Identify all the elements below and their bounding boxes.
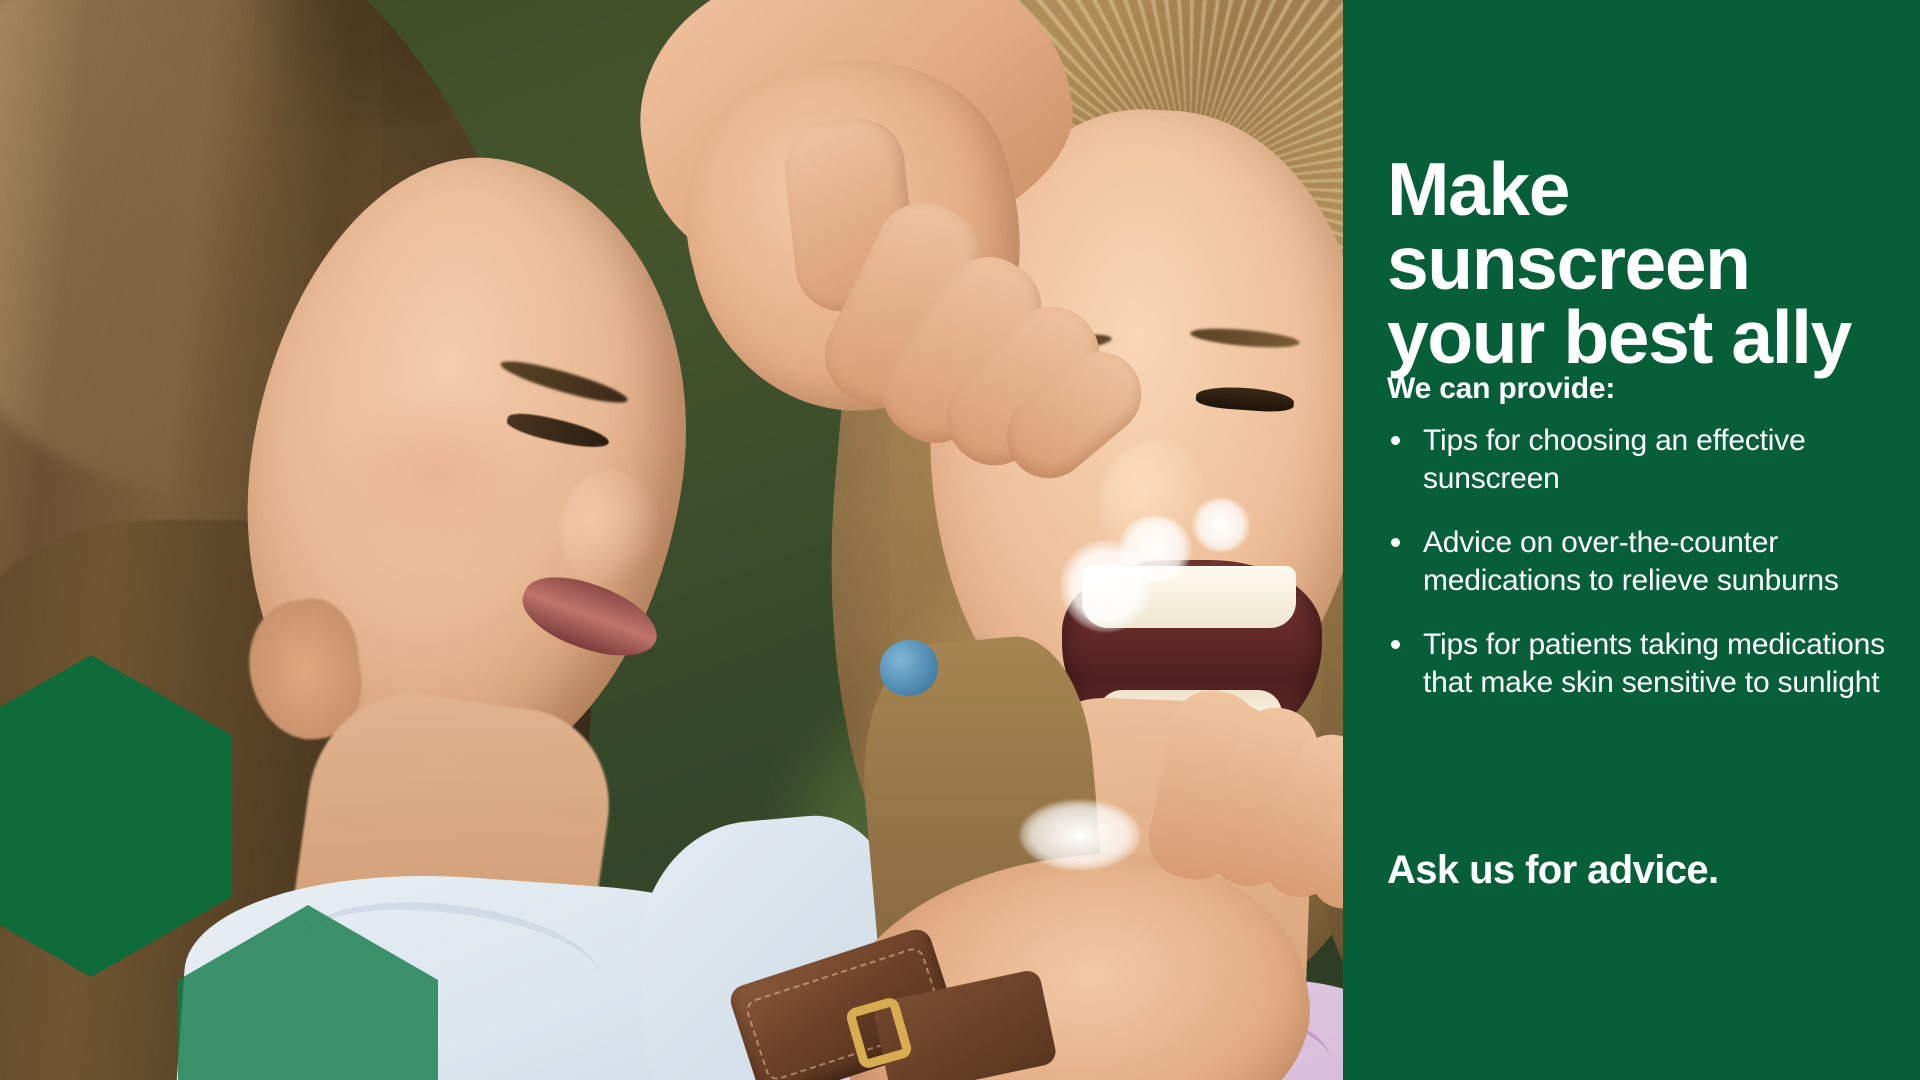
sunscreen-smear-nose xyxy=(1192,498,1250,552)
poster: Make sunscreen your best ally We can pro… xyxy=(0,0,1920,1080)
call-to-action: Ask us for advice. xyxy=(1387,848,1719,893)
list-item: Tips for choosing an effective sunscreen xyxy=(1387,422,1887,498)
benefits-list: Tips for choosing an effective sunscreen… xyxy=(1387,422,1887,728)
bullet-dot-icon xyxy=(1391,538,1400,547)
bullet-dot-icon xyxy=(1391,640,1400,649)
hero-photo xyxy=(0,0,1343,1080)
sunscreen-in-palm xyxy=(1020,800,1140,870)
girl-hair-clip xyxy=(880,640,938,696)
woman-nose xyxy=(560,470,660,590)
page-title: Make sunscreen your best ally xyxy=(1387,152,1887,374)
list-item: Advice on over-the-counter medications t… xyxy=(1387,524,1887,600)
list-item: Tips for patients taking medications tha… xyxy=(1387,626,1887,702)
list-item-label: Tips for choosing an effective sunscreen xyxy=(1423,424,1806,495)
list-item-label: Advice on over-the-counter medications t… xyxy=(1423,526,1839,597)
bullet-dot-icon xyxy=(1391,436,1400,445)
subheading: We can provide: xyxy=(1387,372,1615,406)
sunscreen-smear-mid xyxy=(1118,516,1192,582)
list-item-label: Tips for patients taking medications tha… xyxy=(1423,628,1885,699)
message-panel: Make sunscreen your best ally We can pro… xyxy=(1343,0,1920,1080)
